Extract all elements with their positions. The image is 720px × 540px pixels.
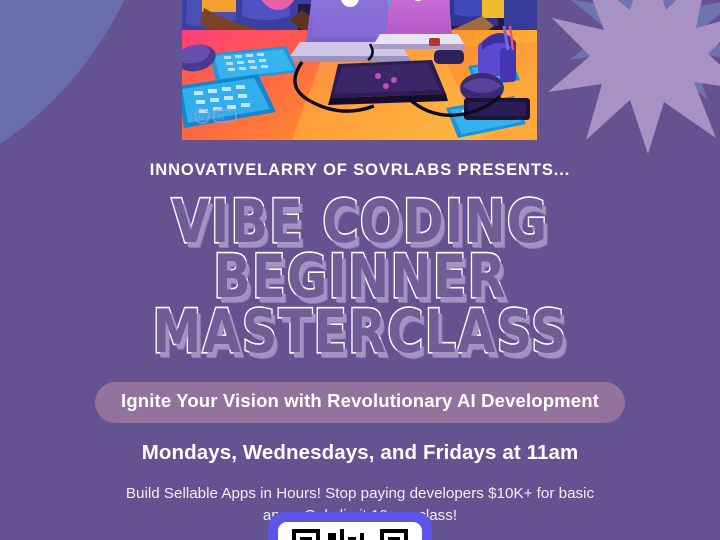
page-title: VIBE CODING BEGINNER MASTERCLASS xyxy=(0,195,720,361)
presenter-line: INNOVATIVELARRY OF SOVRLABS PRESENTS... xyxy=(0,162,720,179)
hero-illustration: U AI xyxy=(182,0,537,140)
starburst-shape-front xyxy=(548,0,720,154)
svg-text:U: U xyxy=(198,113,204,122)
tagline-pill: Ignite Your Vision with Revolutionary AI… xyxy=(95,382,625,423)
poster-content: INNOVATIVELARRY OF SOVRLABS PRESENTS... … xyxy=(0,140,720,526)
title-line-2: MASTERCLASS xyxy=(65,305,655,360)
svg-text:AI: AI xyxy=(217,113,225,122)
title-line-1: VIBE CODING BEGINNER xyxy=(65,195,655,305)
laptops-illustration: U AI xyxy=(182,0,537,140)
starburst-shape-back xyxy=(570,0,720,110)
qr-code[interactable] xyxy=(278,522,422,540)
poster-canvas: U AI INNOVATIVELARRY OF SOVRLABS PRESENT… xyxy=(0,0,720,540)
qr-code-card[interactable] xyxy=(268,512,432,540)
schedule-text: Mondays, Wednesdays, and Fridays at 11am xyxy=(0,443,720,464)
